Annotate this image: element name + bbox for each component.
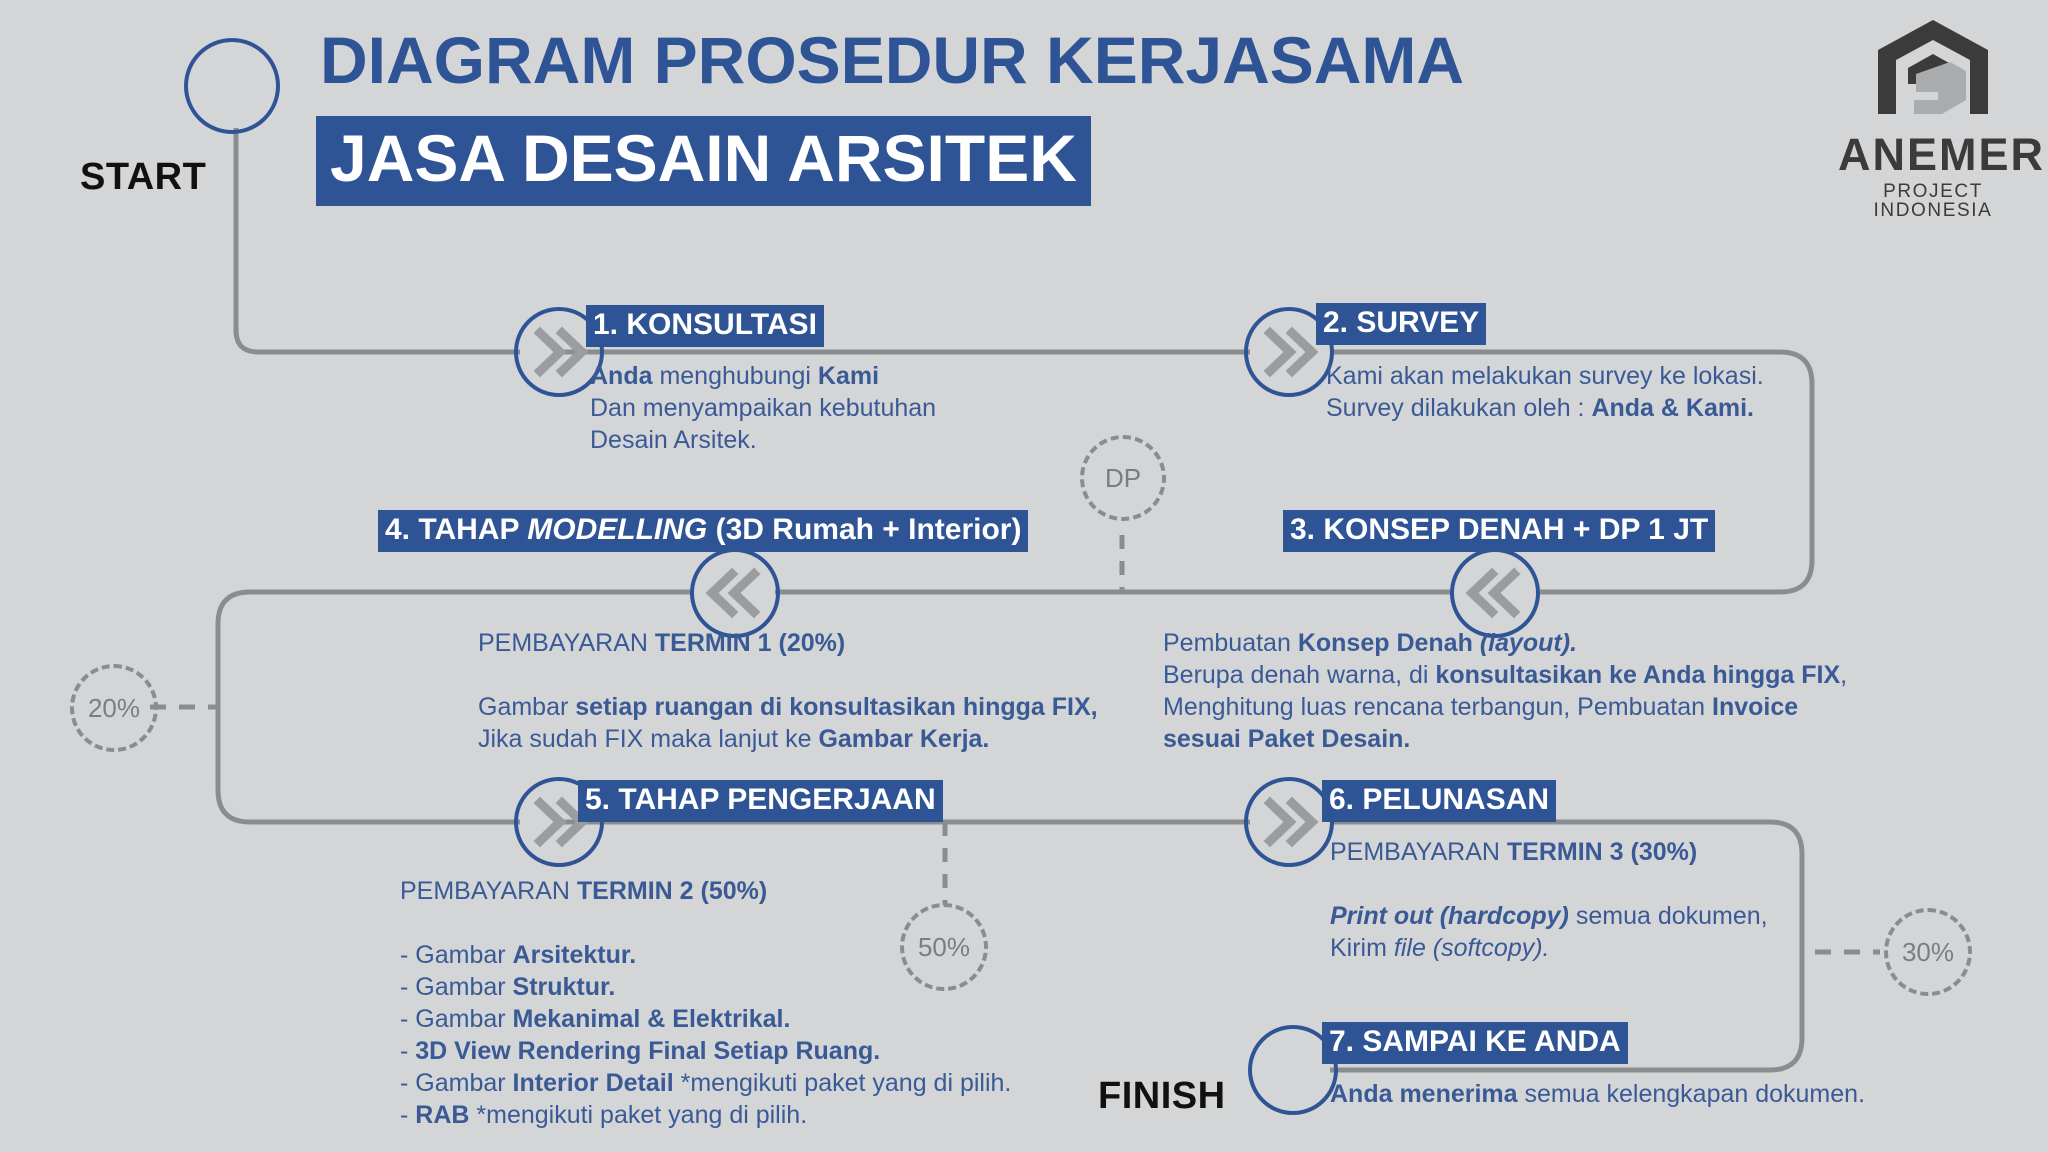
step-body-sampai-ke-anda: Anda menerima semua kelengkapan dokumen. (1330, 1078, 1865, 1110)
step-body-konsep-denah: Pembuatan Konsep Denah (layout).Berupa d… (1163, 627, 1847, 755)
step-body-survey: Kami akan melakukan survey ke lokasi.Sur… (1326, 360, 1764, 424)
step-node-pelunasan[interactable] (1244, 777, 1334, 867)
bubble-dp-label: DP (1105, 463, 1141, 494)
bubble-20-label: 20% (88, 693, 140, 724)
double-chevron-right-icon (1248, 781, 1330, 863)
start-label: START (80, 156, 206, 199)
bubble-50: 50% (900, 903, 988, 991)
step-chip-pengerjaan: 5. TAHAP PENGERJAAN (578, 780, 943, 822)
bubble-30-label: 30% (1902, 937, 1954, 968)
step-chip-modelling: 4. TAHAP MODELLING (3D Rumah + Interior) (378, 510, 1028, 552)
start-node (184, 38, 280, 134)
step-chip-konsultasi: 1. KONSULTASI (586, 305, 824, 347)
page-title: DIAGRAM PROSEDUR KERJASAMA (320, 22, 1464, 98)
bubble-50-label: 50% (918, 932, 970, 963)
step-body-pelunasan: PEMBAYARAN TERMIN 3 (30%) Print out (har… (1330, 836, 1768, 964)
anemer-logo: ANEMER PROJECT INDONESIA (1838, 14, 2028, 229)
logo-wordmark: ANEMER (1838, 132, 2028, 177)
step-body-modelling: PEMBAYARAN TERMIN 1 (20%) Gambar setiap … (478, 627, 1098, 755)
chip-modelling-pre: 4. TAHAP (385, 513, 527, 546)
step-chip-sampai-ke-anda: 7. SAMPAI KE ANDA (1322, 1022, 1628, 1064)
step-chip-survey: 2. SURVEY (1316, 303, 1486, 345)
step-node-modelling[interactable] (690, 548, 780, 638)
step-node-konsep-denah[interactable] (1450, 548, 1540, 638)
hexagon-house-icon (1838, 14, 2028, 132)
logo-subtitle: PROJECT INDONESIA (1838, 182, 2028, 220)
finish-label: FINISH (1098, 1075, 1226, 1118)
chip-modelling-italic: MODELLING (527, 513, 707, 546)
step-chip-konsep-denah: 3. KONSEP DENAH + DP 1 JT (1283, 510, 1715, 552)
page-subtitle: JASA DESAIN ARSITEK (316, 116, 1091, 206)
bubble-dp: DP (1080, 435, 1166, 521)
double-chevron-left-icon (694, 552, 776, 634)
diagram-canvas: DIAGRAM PROSEDUR KERJASAMA JASA DESAIN A… (0, 0, 2048, 1152)
step-body-konsultasi: Anda menghubungi KamiDan menyampaikan ke… (590, 360, 936, 456)
bubble-30: 30% (1884, 908, 1972, 996)
chip-modelling-post: (3D Rumah + Interior) (707, 513, 1021, 546)
step-chip-pelunasan: 6. PELUNASAN (1322, 780, 1556, 822)
double-chevron-left-icon (1454, 552, 1536, 634)
bubble-20: 20% (70, 664, 158, 752)
